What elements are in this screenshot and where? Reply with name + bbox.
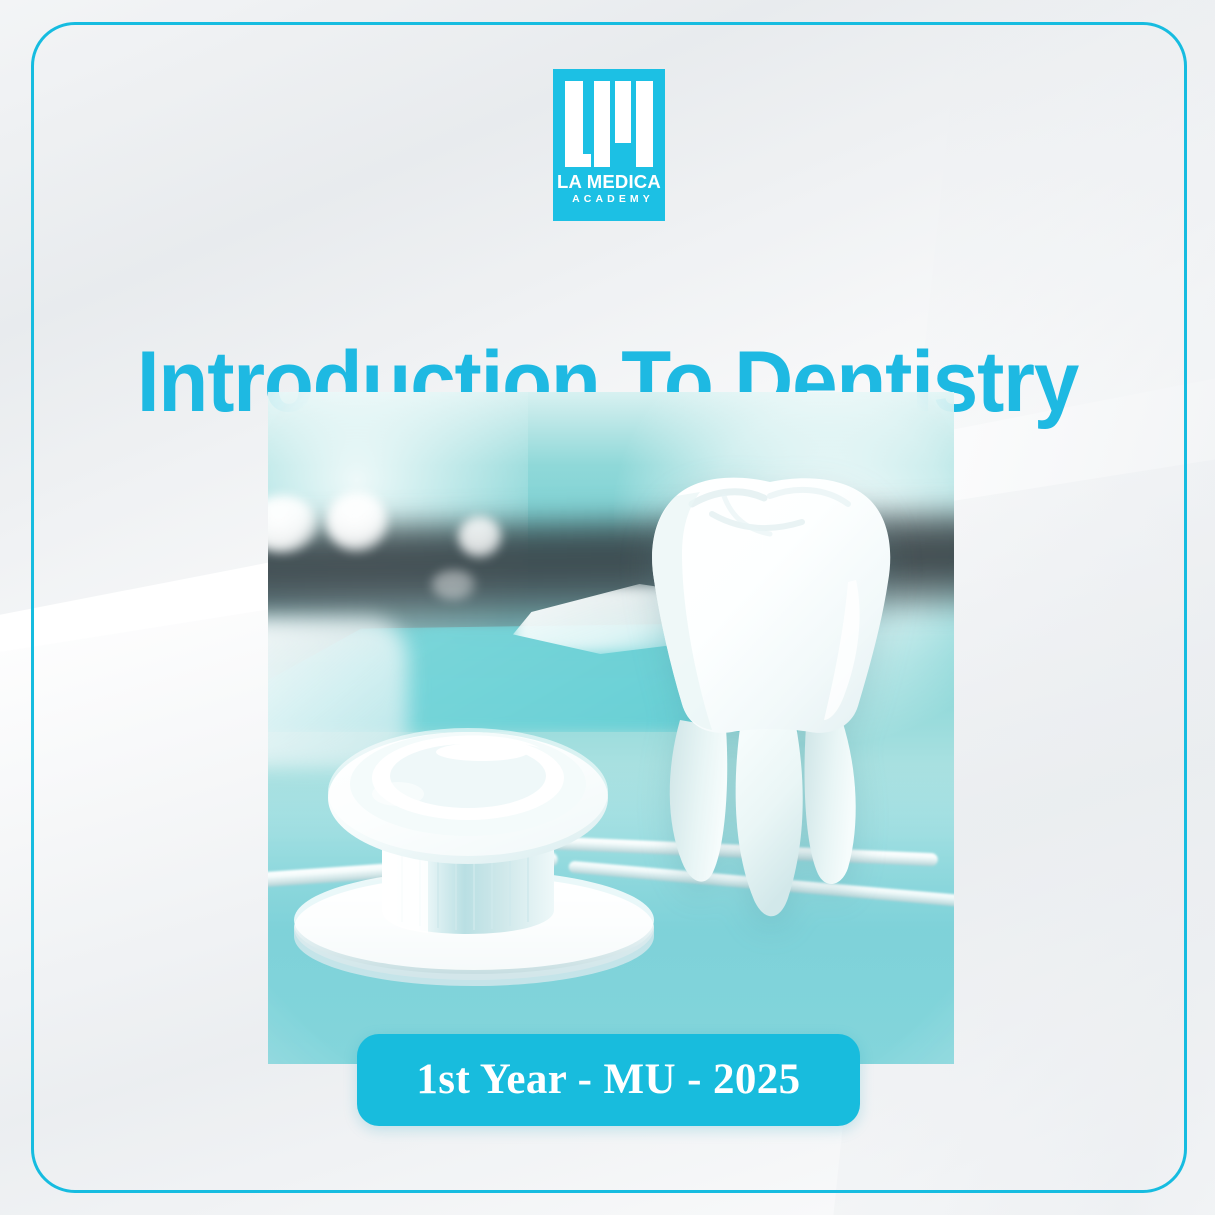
logo-subtitle-text: ACADEMY (553, 193, 669, 205)
stethoscope-icon (278, 672, 658, 1002)
la-medica-logo[interactable]: LA MEDICA ACADEMY (553, 69, 665, 221)
poster-canvas: LA MEDICA ACADEMY Introduction To Dentis… (0, 0, 1215, 1215)
bokeh-highlight (431, 570, 477, 600)
course-badge-label: 1st Year - MU - 2025 (416, 1057, 800, 1103)
bokeh-highlight (458, 516, 502, 558)
course-badge[interactable]: 1st Year - MU - 2025 (357, 1034, 860, 1126)
bokeh-highlight (326, 492, 388, 552)
logo-name-text: LA MEDICA (553, 172, 665, 191)
tooth-model-icon (620, 470, 920, 950)
hero-photo-inner (268, 392, 954, 1064)
hero-photo (268, 392, 954, 1064)
